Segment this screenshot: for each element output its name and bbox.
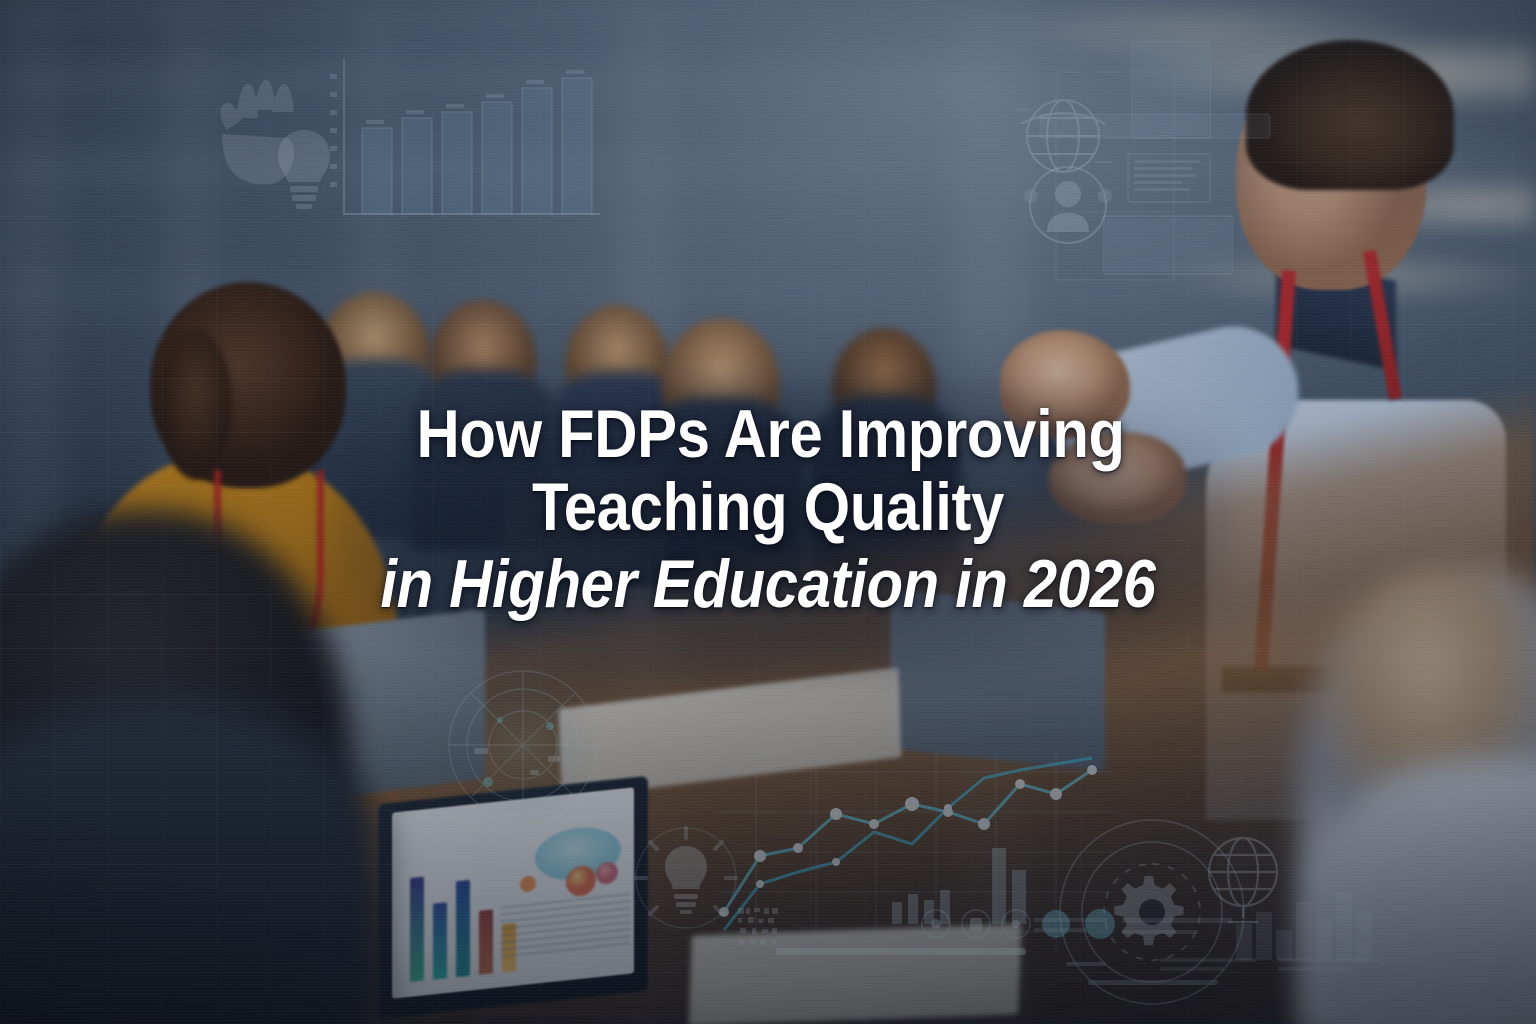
hero-banner: How FDPs Are Improving Teaching Quality … <box>0 0 1536 1024</box>
headline-line-1: How FDPs Are Improving <box>92 398 1444 471</box>
headline-line-2: Teaching Quality <box>92 471 1444 544</box>
headline: How FDPs Are Improving Teaching Quality … <box>0 398 1536 620</box>
headline-line-3: in Higher Education in 2026 <box>92 548 1444 621</box>
